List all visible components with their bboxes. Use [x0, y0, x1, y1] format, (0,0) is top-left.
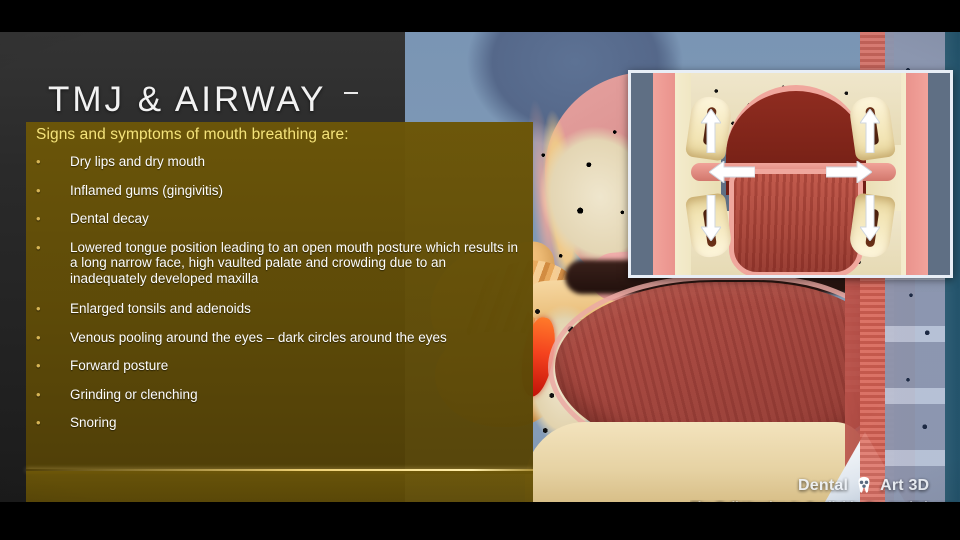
list-item-label: Inflamed gums (gingivitis)	[70, 183, 525, 199]
list-item: • Dry lips and dry mouth	[36, 154, 525, 170]
bullet-dot-icon: •	[36, 154, 70, 170]
brand-name-second: Art 3D	[880, 477, 929, 495]
list-item: • Forward posture	[36, 358, 525, 374]
bullet-dot-icon: •	[36, 183, 70, 199]
panel-heading: Signs and symptoms of mouth breathing ar…	[26, 122, 533, 148]
list-item: • Grinding or clenching	[36, 387, 525, 403]
list-item-label: Dry lips and dry mouth	[70, 154, 525, 170]
arrow-down-left-icon	[701, 195, 721, 241]
arrow-up-right-icon	[860, 109, 880, 153]
list-item-label: Forward posture	[70, 358, 525, 374]
coronal-tongue-posture-inset	[628, 70, 953, 278]
list-item: • Venous pooling around the eyes – dark …	[36, 330, 525, 346]
list-item: • Dental decay	[36, 211, 525, 227]
watermark-text: The Full Version Is Available On: tmd3d.…	[690, 500, 960, 502]
title-accent-dash	[344, 92, 358, 94]
list-item: • Enlarged tonsils and adenoids	[36, 301, 525, 317]
tooth-icon	[853, 475, 875, 497]
list-item-label: Grinding or clenching	[70, 387, 525, 403]
bullet-dot-icon: •	[36, 387, 70, 403]
symptoms-list: • Dry lips and dry mouth • Inflamed gums…	[26, 154, 533, 444]
slide-canvas: TMJ & AIRWAY Signs and symptoms of mouth…	[0, 0, 960, 540]
brand-name-first: Dental	[798, 477, 848, 495]
bullet-dot-icon: •	[36, 330, 70, 346]
list-item-label: Enlarged tonsils and adenoids	[70, 301, 525, 317]
panel-footer	[26, 471, 533, 502]
slide-title: TMJ & AIRWAY	[48, 80, 326, 120]
bullet-dot-icon: •	[36, 211, 70, 227]
list-item-label: Lowered tongue position leading to an op…	[70, 240, 525, 287]
arrow-left-icon	[709, 161, 755, 183]
list-item: • Lowered tongue position leading to an …	[36, 240, 525, 287]
bullet-dot-icon: •	[36, 240, 70, 256]
list-item-label: Venous pooling around the eyes – dark ci…	[70, 330, 525, 346]
slide-content-band: TMJ & AIRWAY Signs and symptoms of mouth…	[0, 32, 960, 502]
list-item: • Inflamed gums (gingivitis)	[36, 183, 525, 199]
arrow-down-right-icon	[860, 195, 880, 241]
brand-logo: Dental Art 3D	[798, 475, 929, 497]
bullet-dot-icon: •	[36, 415, 70, 431]
watermark-strip: The Full Version Is Available On: tmd3d.…	[690, 500, 960, 502]
bullet-dot-icon: •	[36, 358, 70, 374]
list-item: • Snoring	[36, 415, 525, 431]
inset-tongue	[729, 169, 863, 277]
arrow-up-left-icon	[701, 109, 721, 153]
list-item-label: Snoring	[70, 415, 525, 431]
list-item-label: Dental decay	[70, 211, 525, 227]
arrow-right-icon	[826, 161, 872, 183]
symptoms-panel: Signs and symptoms of mouth breathing ar…	[26, 122, 533, 474]
bullet-dot-icon: •	[36, 301, 70, 317]
